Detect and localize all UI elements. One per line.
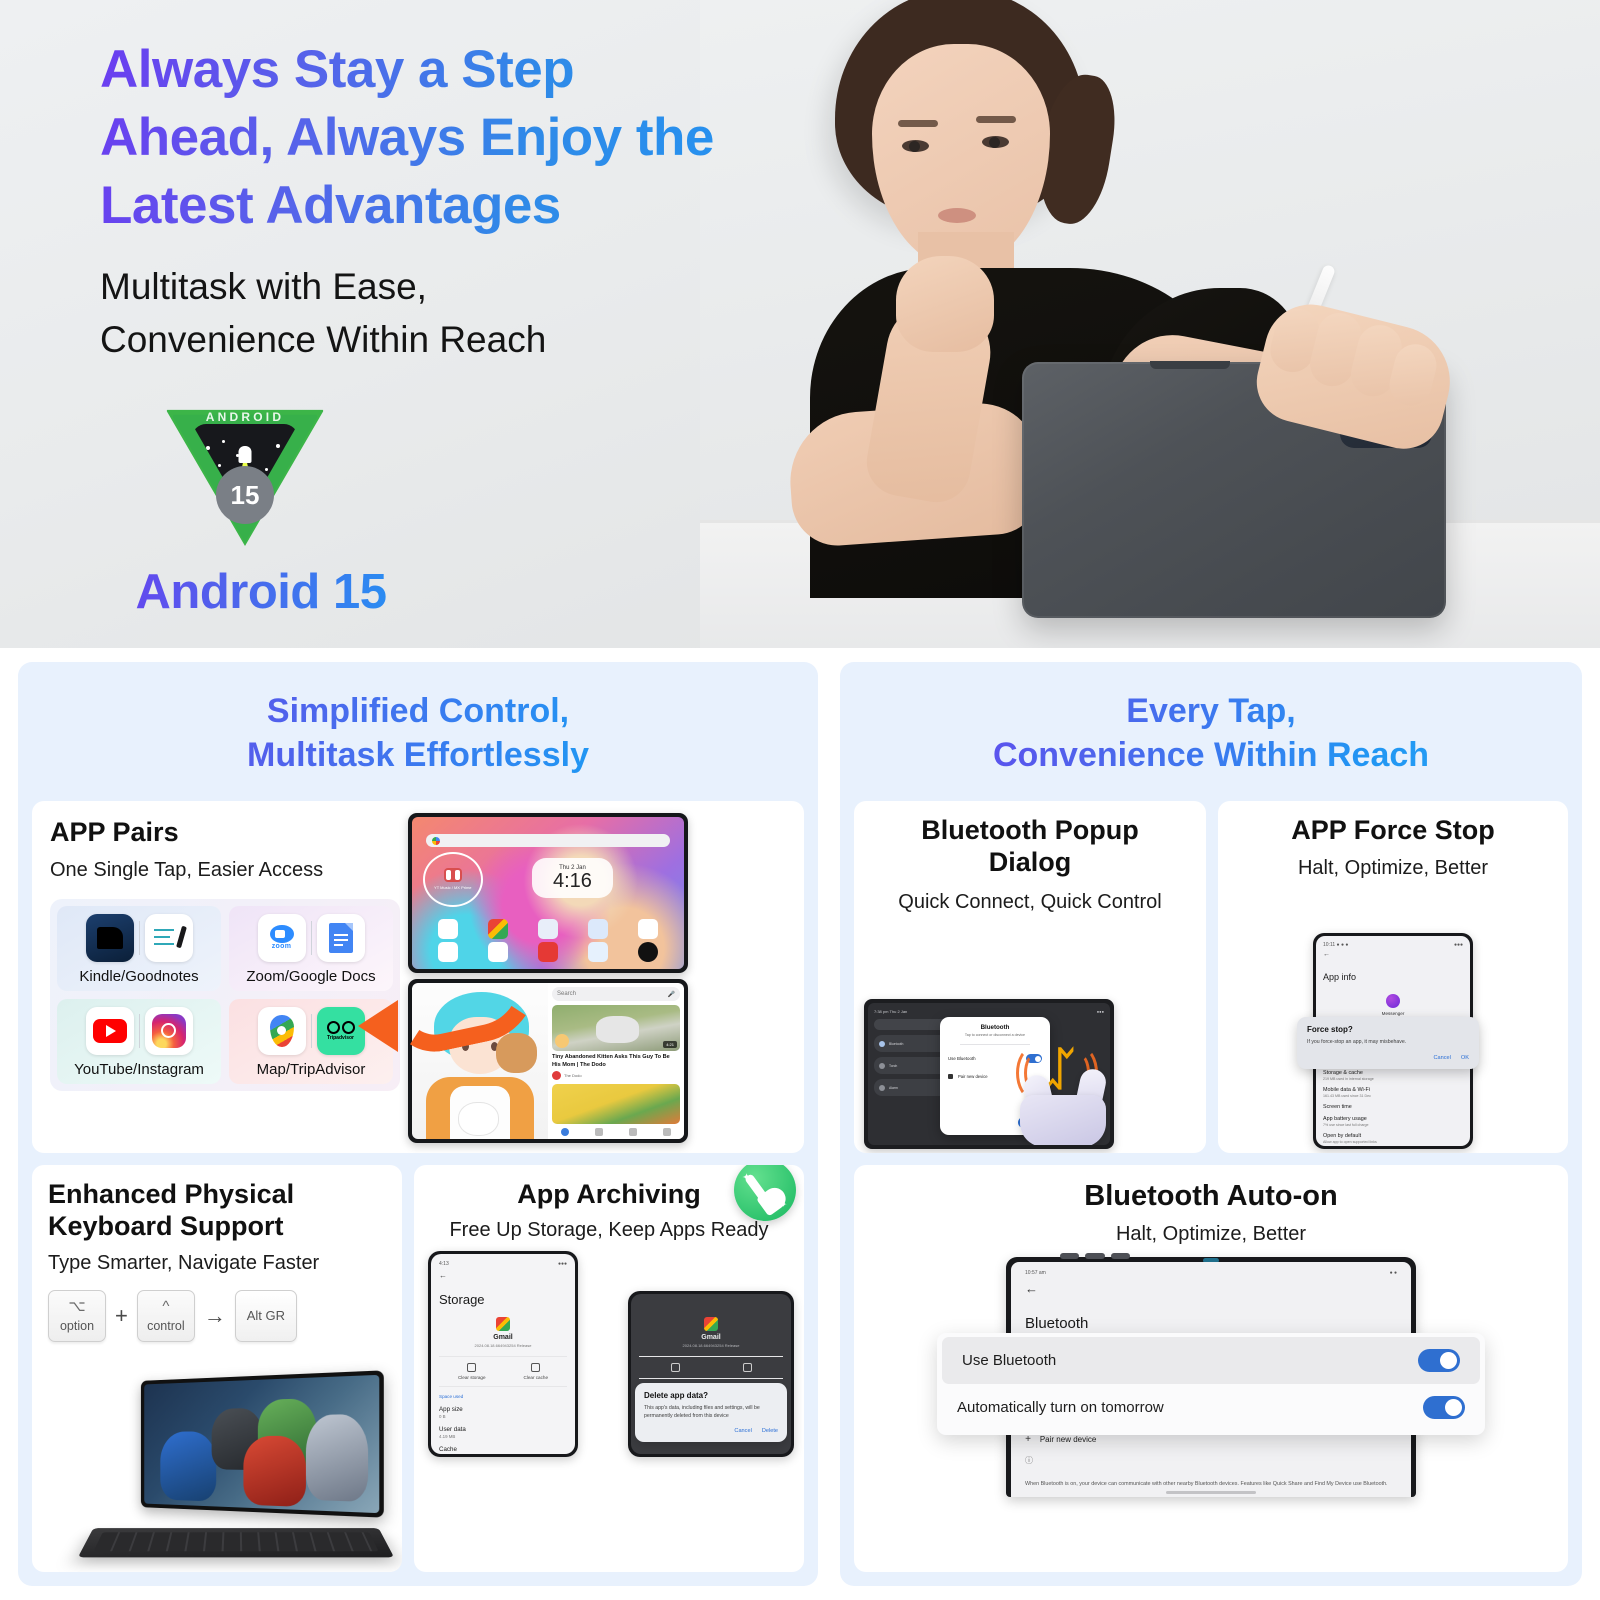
storage-row: User data4.19 MB: [439, 1426, 567, 1439]
bottom-nav: [548, 1125, 684, 1139]
keyboard-base[interactable]: [78, 1528, 394, 1557]
search-icon[interactable]: [595, 1128, 603, 1136]
hero-figure-1: [161, 1431, 217, 1501]
card-bluetooth-auto-on: Bluetooth Auto-on Halt, Optimize, Better…: [854, 1165, 1568, 1572]
model-eye-left: [902, 140, 929, 152]
auto-turn-on-toggle[interactable]: [1423, 1396, 1465, 1419]
right-panel-title: Every Tap, Convenience Within Reach: [854, 676, 1568, 789]
dock-app-1[interactable]: [438, 919, 458, 939]
phone-app-info-mock: 10:11 ● ● ●●●● ← App info Messenger Stor…: [1313, 933, 1473, 1149]
cat-illustration: [496, 1033, 537, 1074]
channel-logo: [555, 1034, 569, 1048]
profile-icon[interactable]: [663, 1128, 671, 1136]
section-label: Space used: [439, 1394, 567, 1399]
cancel-button[interactable]: Cancel: [1433, 1055, 1450, 1061]
app-pairs-grid: Kindle/Goodnotes zoom: [50, 899, 400, 1091]
row-label: Use Bluetooth: [962, 1352, 1056, 1369]
cancel-button[interactable]: Cancel: [734, 1428, 751, 1434]
home-icon[interactable]: [561, 1128, 569, 1136]
app-pair-kindle-goodnotes[interactable]: Kindle/Goodnotes: [57, 906, 221, 991]
option-label: option: [60, 1319, 94, 1333]
bt-popup-heading: Bluetooth Popup Dialog: [866, 815, 1194, 879]
screen-title: App info: [1323, 972, 1463, 982]
pair-label: YouTube/Instagram: [63, 1061, 215, 1078]
hero-figure-4: [244, 1436, 306, 1507]
settings-row[interactable]: Screen time: [1323, 1104, 1463, 1110]
app-pair-highlight: YT Music / MX Prime: [423, 852, 483, 907]
left-bottom-row: Enhanced Physical Keyboard Support Type …: [32, 1165, 804, 1572]
hero-text-block: Always Stay a Step Ahead, Always Enjoy t…: [100, 36, 840, 367]
google-docs-icon: [317, 914, 365, 962]
force-stop-dialog: Force stop? If you force-stop an app, it…: [1297, 1017, 1479, 1069]
app-pairs-sub: One Single Tap, Easier Access: [50, 857, 400, 883]
explore-icon[interactable]: [629, 1128, 637, 1136]
force-stop-heading: APP Force Stop: [1230, 815, 1556, 847]
android-version-label: Android 15: [96, 564, 426, 620]
card-bluetooth-popup: Bluetooth Popup Dialog Quick Connect, Qu…: [854, 801, 1206, 1153]
hero-headline: Always Stay a Step Ahead, Always Enjoy t…: [100, 36, 840, 239]
star-icon: [276, 444, 280, 448]
video-duration: 4:21: [663, 1041, 677, 1048]
archiving-sub: Free Up Storage, Keep Apps Ready: [449, 1217, 768, 1243]
earbuds-image: [1010, 1067, 1110, 1145]
auto-on-heading: Bluetooth Auto-on: [866, 1179, 1556, 1213]
mic-icon[interactable]: 🎤: [668, 991, 675, 998]
pair-label: Pair new device: [958, 1074, 988, 1079]
avatar: [552, 1071, 561, 1080]
storage-actions: Clear storage Clear cache: [439, 1356, 567, 1387]
gmail-icon: [704, 1317, 718, 1331]
ok-button[interactable]: OK: [1461, 1055, 1469, 1061]
dock-app-7[interactable]: [488, 942, 508, 962]
card-keyboard-support: Enhanced Physical Keyboard Support Type …: [32, 1165, 402, 1572]
control-symbol: ^: [162, 1299, 169, 1314]
dock-row-1: [423, 917, 673, 940]
gmail-icon: [496, 1317, 510, 1331]
app-name: Messenger: [1323, 1011, 1463, 1016]
hero-subheadline: Multitask with Ease, Convenience Within …: [100, 261, 840, 366]
video-title: Tiny Abandoned Kitten Asks This Guy To B…: [552, 1054, 680, 1069]
key-altgr: Alt GR: [235, 1290, 297, 1342]
use-bluetooth-toggle[interactable]: [1418, 1349, 1460, 1372]
dialog-body: If you force-stop an app, it may misbeha…: [1307, 1039, 1469, 1047]
auto-on-sub: Halt, Optimize, Better: [866, 1221, 1556, 1247]
instagram-icon: [145, 1007, 193, 1055]
dialog-title: Delete app data?: [644, 1391, 778, 1400]
pair-divider: [311, 921, 312, 955]
left-panel-title: Simplified Control, Multitask Effortless…: [32, 676, 804, 789]
channel-name: The Dodo: [564, 1073, 582, 1078]
screen-title: Bluetooth: [1025, 1315, 1397, 1332]
youtube-icon: [86, 1007, 134, 1055]
nav-handle[interactable]: [1166, 1491, 1256, 1494]
panel-every-tap: Every Tap, Convenience Within Reach Blue…: [840, 662, 1582, 1586]
pair-icons: [63, 914, 215, 962]
tablet-homescreen-mock: YT Music / MX Prime Thu 2 Jan 4:16: [408, 813, 688, 973]
app-version: 2024.08.18.664943254 Release: [639, 1343, 783, 1348]
storage-actions: [639, 1356, 783, 1379]
model-eye-right: [982, 136, 1009, 148]
cat-shirt-print: [458, 1102, 499, 1136]
video-thumbnail-2[interactable]: [552, 1084, 680, 1124]
dock-app-3[interactable]: [538, 919, 558, 939]
dialog-body: This app's data, including files and set…: [644, 1405, 778, 1420]
pair-divider: [311, 1014, 312, 1048]
delete-screen: Gmail 2024.08.18.664943254 Release Delet…: [631, 1294, 791, 1454]
android-15-badge: ANDROID 15: [166, 398, 324, 548]
bt-popup-sub: Quick Connect, Quick Control: [866, 889, 1194, 915]
search-field[interactable]: Search 🎤: [552, 987, 680, 1001]
keyboard-keys: [93, 1532, 378, 1551]
dock-app-2[interactable]: [488, 919, 508, 939]
use-bluetooth-row[interactable]: Use Bluetooth: [942, 1337, 1480, 1384]
status-icons: ● ●: [1390, 1270, 1397, 1276]
app-name: Gmail: [639, 1334, 783, 1341]
key-option: ⌥ option: [48, 1290, 106, 1342]
clear-cache-button[interactable]: Clear cache: [524, 1363, 549, 1380]
pair-label: Pair new device: [1040, 1435, 1096, 1444]
dock-app-4[interactable]: [588, 919, 608, 939]
keyboard-heading: Enhanced Physical Keyboard Support: [48, 1179, 386, 1243]
model-lips: [938, 208, 976, 223]
toggle-label: Use Bluetooth: [948, 1056, 976, 1061]
search-placeholder: Search: [557, 991, 576, 997]
pair-divider: [139, 1014, 140, 1048]
movie-poster: [144, 1375, 379, 1513]
app-pair-youtube-instagram[interactable]: YouTube/Instagram: [57, 999, 221, 1084]
dialog-footer: Cancel Delete: [644, 1428, 778, 1434]
clock-time: 4:16: [553, 871, 592, 891]
orange-arrow-head: [358, 1000, 398, 1052]
dialog-title: Force stop?: [1307, 1025, 1469, 1034]
wallpaper: YT Music / MX Prime Thu 2 Jan 4:16: [412, 817, 684, 969]
clock-widget: Thu 2 Jan 4:16: [532, 858, 614, 898]
dock-app-5[interactable]: [638, 919, 658, 939]
dock-app-8[interactable]: [538, 942, 558, 962]
key-combo-illustration: ⌥ option + ^ control → Alt GR: [48, 1290, 386, 1342]
control-label: control: [147, 1319, 185, 1333]
phone-storage-mock: 4:13●●● ← Storage Gmail 2024.08.18.66494…: [428, 1251, 578, 1457]
model-brow-right: [976, 116, 1016, 123]
app-pairs-text: APP Pairs One Single Tap, Easier Access: [50, 817, 400, 1137]
app-version: 2024.08.18.664943254 Release: [439, 1343, 567, 1348]
row-label: Automatically turn on tomorrow: [957, 1399, 1164, 1416]
status-bar: 4:13●●●: [439, 1261, 567, 1267]
messenger-icon: [1386, 994, 1400, 1008]
panel-simplified-control: Simplified Control, Multitask Effortless…: [18, 662, 818, 1586]
phone-delete-dialog-mock: Gmail 2024.08.18.664943254 Release Delet…: [628, 1291, 794, 1457]
force-stop-sub: Halt, Optimize, Better: [1230, 855, 1556, 881]
rocket-nose: [239, 446, 252, 463]
google-search-bar[interactable]: [426, 834, 671, 848]
pair-label: Zoom/Google Docs: [235, 968, 387, 985]
star-icon: [218, 464, 221, 467]
delete-button[interactable]: Delete: [762, 1428, 778, 1434]
settings-row[interactable]: Mobile data & Wi‑Fi161.43 MB used since …: [1323, 1087, 1463, 1098]
dock-app-9[interactable]: [588, 942, 608, 962]
android-version-block: ANDROID 15 Android 15: [96, 398, 426, 620]
arrow-right-icon: →: [204, 1303, 226, 1329]
app-pairs-mockups: YT Music / MX Prime Thu 2 Jan 4:16: [400, 817, 786, 1137]
sparkle-icon: ✦: [742, 1171, 751, 1184]
action-right[interactable]: [743, 1363, 752, 1372]
bluetooth-info-text: When Bluetooth is on, your device can co…: [1025, 1480, 1397, 1488]
star-icon: [222, 440, 225, 443]
tablet-screen: YT Music / MX Prime Thu 2 Jan 4:16: [412, 817, 684, 969]
status-bar: 7:38 pm Thu 2 Jan●●●: [874, 1009, 1104, 1014]
hero-figure-5: [306, 1414, 368, 1502]
info-icon: ⓘ: [1025, 1455, 1397, 1466]
pair-new-device-row[interactable]: + Pair new device: [1025, 1434, 1397, 1445]
dialog-title: Bluetooth: [948, 1024, 1042, 1031]
right-top-row: Bluetooth Popup Dialog Quick Connect, Qu…: [854, 801, 1568, 1153]
back-arrow-icon[interactable]: ←: [1025, 1282, 1397, 1295]
back-arrow-icon[interactable]: ←: [439, 1271, 567, 1280]
plus-sign: +: [115, 1303, 128, 1329]
pair-widget-label: YT Music / MX Prime: [434, 885, 472, 890]
cleaning-broom-icon: ✦ ✦: [734, 1165, 796, 1221]
tablet-screen-movie: [141, 1370, 384, 1517]
badge-android-word: ANDROID: [166, 410, 324, 424]
delete-app-data-dialog: Delete app data? This app's data, includ…: [635, 1383, 787, 1442]
status-time: 10:57 am: [1025, 1270, 1046, 1276]
settings-row[interactable]: Open by defaultAllow app to open support…: [1323, 1133, 1463, 1144]
tablet-quicksettings-mock: 7:38 pm Thu 2 Jan●●● Bluetooth Torch Ala…: [864, 999, 1114, 1149]
hero-section: Always Stay a Step Ahead, Always Enjoy t…: [0, 0, 1600, 648]
archiving-heading: App Archiving: [517, 1179, 701, 1211]
badge-version-circle: 15: [216, 466, 274, 524]
app-pair-zoom-googledocs[interactable]: zoom: [229, 906, 393, 991]
tablet-top-notch: [1150, 361, 1230, 369]
card-app-archiving: App Archiving Free Up Storage, Keep Apps…: [414, 1165, 804, 1572]
action-left[interactable]: [671, 1363, 680, 1372]
feature-panels: Simplified Control, Multitask Effortless…: [0, 648, 1600, 1600]
earbuds-case: [1020, 1095, 1106, 1145]
google-maps-icon: [258, 1007, 306, 1055]
pair-label: Map/TripAdvisor: [235, 1061, 387, 1078]
dock-row-2: [423, 940, 673, 963]
app-pair-widget-icon: [444, 868, 462, 882]
quick-settings-panel: 7:38 pm Thu 2 Jan●●● Bluetooth Torch Ala…: [868, 1003, 1110, 1145]
option-symbol: ⌥: [68, 1299, 85, 1314]
tablet-side-buttons: [1060, 1253, 1130, 1259]
dock-app-6[interactable]: [438, 942, 458, 962]
model-brow-left: [898, 120, 938, 127]
storage-screen: 4:13●●● ← Storage Gmail 2024.08.18.66494…: [431, 1254, 575, 1454]
storage-row: App size0 B: [439, 1406, 567, 1419]
kitten-image: [596, 1016, 640, 1043]
storage-title: Storage: [439, 1292, 567, 1307]
settings-row[interactable]: App battery usage7% use since last full …: [1323, 1116, 1463, 1127]
star-icon: [265, 468, 268, 471]
card-app-force-stop: APP Force Stop Halt, Optimize, Better 10…: [1218, 801, 1568, 1153]
model-hand-chin: [896, 256, 994, 352]
app-name: Gmail: [439, 1334, 567, 1341]
pair-icons: zoom: [235, 914, 387, 962]
pair-divider: [139, 921, 140, 955]
sparkle-icon: ✦: [780, 1200, 787, 1209]
floating-toggle-panel: Use Bluetooth Automatically turn on tomo…: [937, 1333, 1485, 1435]
back-arrow-icon[interactable]: ←: [1323, 951, 1463, 958]
storage-row: Cache1.52 MB: [439, 1446, 567, 1454]
settings-row[interactable]: Storage & cache219 MB used in internal s…: [1323, 1070, 1463, 1081]
dialog-footer: Cancel OK: [1307, 1055, 1469, 1061]
product-feature-page: Always Stay a Step Ahead, Always Enjoy t…: [0, 0, 1600, 1600]
zoom-icon: zoom: [258, 914, 306, 962]
card-app-pairs: APP Pairs One Single Tap, Easier Access: [32, 801, 804, 1153]
video-thumbnail[interactable]: 4:21: [552, 1005, 680, 1051]
dock-app-10[interactable]: [638, 942, 658, 962]
tablet-keyboard-mock: [86, 1372, 396, 1572]
app-dock: [423, 917, 673, 963]
plus-icon: [948, 1074, 953, 1079]
kindle-icon: [86, 914, 134, 962]
pair-label: Kindle/Goodnotes: [63, 968, 215, 985]
key-control: ^ control: [137, 1290, 195, 1342]
goodnotes-icon: [145, 914, 193, 962]
video-meta: The Dodo: [552, 1071, 680, 1080]
plus-icon: +: [1025, 1434, 1031, 1445]
status-bar: 10:11 ● ● ●●●●: [1323, 942, 1463, 948]
auto-turn-on-row[interactable]: Automatically turn on tomorrow: [937, 1384, 1485, 1431]
pair-icons: [63, 1007, 215, 1055]
status-bar: 10:57 am ● ●: [1025, 1270, 1397, 1276]
google-icon: [432, 837, 440, 845]
app-pairs-heading: APP Pairs: [50, 817, 400, 849]
split-pane-video-feed: Search 🎤 4:21 Tiny Abandoned Kitten Asks…: [548, 983, 684, 1139]
altgr-label: Alt GR: [247, 1308, 285, 1323]
keyboard-sub: Type Smarter, Navigate Faster: [48, 1250, 386, 1276]
clear-storage-button[interactable]: Clear storage: [458, 1363, 486, 1380]
